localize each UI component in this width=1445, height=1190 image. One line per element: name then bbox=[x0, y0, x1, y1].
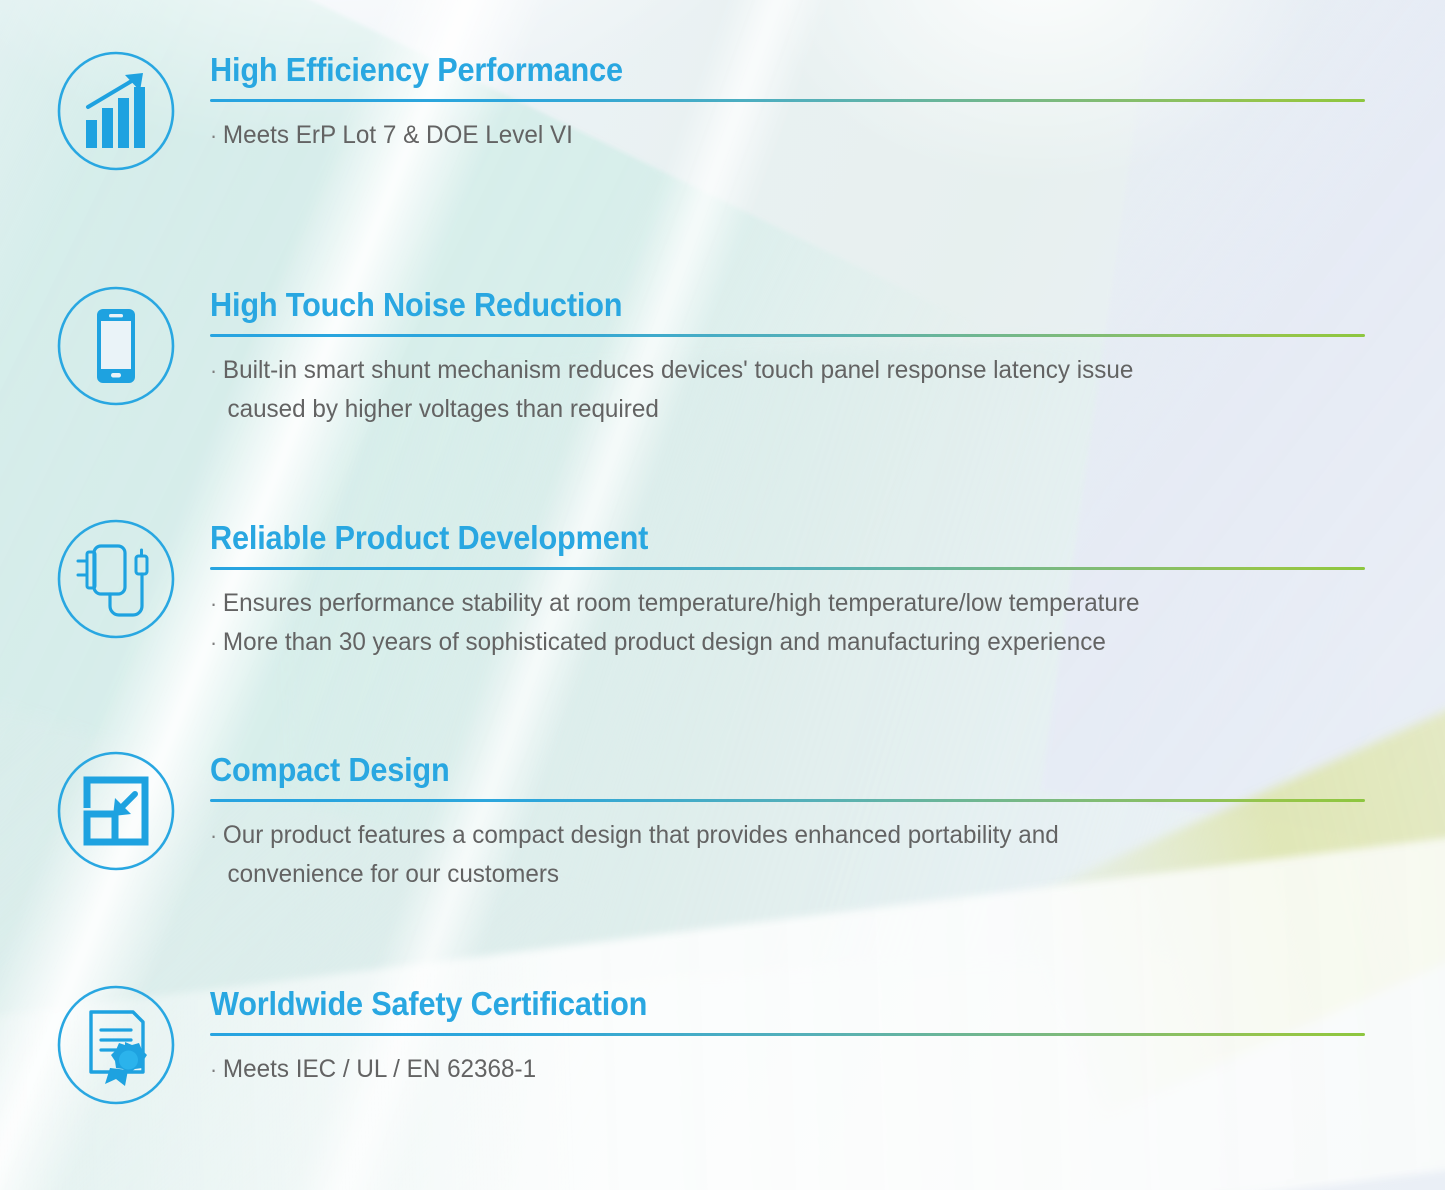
feature-divider bbox=[210, 334, 1365, 337]
feature-content: High Efficiency Performance ·Meets ErP L… bbox=[210, 50, 1375, 155]
feature-bullets: ·Meets ErP Lot 7 & DOE Level VI bbox=[210, 116, 1375, 155]
feature-list: High Efficiency Performance ·Meets ErP L… bbox=[0, 0, 1445, 1190]
bullet-line: ·Meets ErP Lot 7 & DOE Level VI bbox=[210, 116, 1340, 155]
feature-divider bbox=[210, 1033, 1365, 1036]
bullet-line: ·Meets IEC / UL / EN 62368-1 bbox=[210, 1050, 1340, 1089]
bullet-text: Ensures performance stability at room te… bbox=[223, 589, 1140, 617]
feature-bullets: ·Ensures performance stability at room t… bbox=[210, 584, 1375, 662]
feature-content: Compact Design ·Our product features a c… bbox=[210, 750, 1375, 893]
feature-title: Compact Design bbox=[210, 750, 1293, 790]
bullet-marker: · bbox=[210, 823, 217, 848]
feature-divider bbox=[210, 567, 1365, 570]
bar-chart-growth-icon bbox=[55, 50, 177, 172]
bullet-text: Meets ErP Lot 7 & DOE Level VI bbox=[223, 121, 573, 149]
power-adapter-icon bbox=[55, 518, 177, 640]
feature-content: Worldwide Safety Certification ·Meets IE… bbox=[210, 984, 1375, 1089]
certificate-seal-icon bbox=[55, 984, 177, 1106]
feature-bullets: ·Our product features a compact design t… bbox=[210, 816, 1375, 893]
feature-title: Worldwide Safety Certification bbox=[210, 984, 1293, 1024]
feature-bullets: ·Built-in smart shunt mechanism reduces … bbox=[210, 351, 1375, 428]
bullet-line-continuation: convenience for our customers bbox=[210, 855, 1340, 893]
bullet-text: Built-in smart shunt mechanism reduces d… bbox=[223, 356, 1133, 384]
bullet-line: ·More than 30 years of sophisticated pro… bbox=[210, 623, 1340, 662]
bullet-text: Our product features a compact design th… bbox=[223, 821, 1059, 849]
bullet-line-continuation: caused by higher voltages than required bbox=[210, 390, 1340, 428]
feature-bullets: ·Meets IEC / UL / EN 62368-1 bbox=[210, 1050, 1375, 1089]
bullet-line: ·Built-in smart shunt mechanism reduces … bbox=[210, 351, 1340, 390]
feature-content: Reliable Product Development ·Ensures pe… bbox=[210, 518, 1375, 662]
feature-content: High Touch Noise Reduction ·Built-in sma… bbox=[210, 285, 1375, 428]
feature-divider bbox=[210, 799, 1365, 802]
feature-divider bbox=[210, 99, 1365, 102]
bullet-line: ·Ensures performance stability at room t… bbox=[210, 584, 1340, 623]
bullet-marker: · bbox=[210, 358, 217, 383]
bullet-line: ·Our product features a compact design t… bbox=[210, 816, 1340, 855]
bullet-marker: · bbox=[210, 1057, 217, 1082]
bullet-marker: · bbox=[210, 630, 217, 655]
feature-title: Reliable Product Development bbox=[210, 518, 1293, 558]
smartphone-icon bbox=[55, 285, 177, 407]
feature-title: High Touch Noise Reduction bbox=[210, 285, 1293, 325]
feature-highlights-panel: High Efficiency Performance ·Meets ErP L… bbox=[0, 0, 1445, 1190]
bullet-text: Meets IEC / UL / EN 62368-1 bbox=[223, 1055, 536, 1083]
feature-title: High Efficiency Performance bbox=[210, 50, 1293, 90]
compact-resize-icon bbox=[55, 750, 177, 872]
bullet-marker: · bbox=[210, 123, 217, 148]
bullet-marker: · bbox=[210, 591, 217, 616]
bullet-text: More than 30 years of sophisticated prod… bbox=[223, 628, 1106, 656]
